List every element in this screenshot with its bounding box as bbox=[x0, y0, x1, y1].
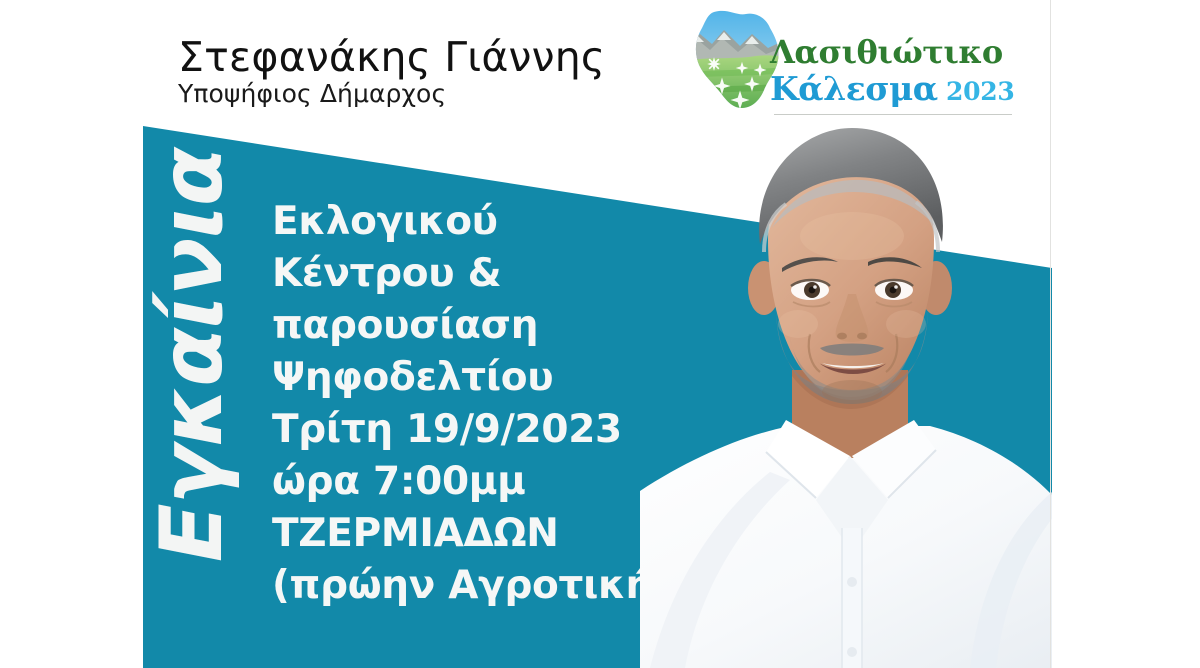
logo-kalesma-text: Κάλεσμα bbox=[770, 69, 938, 108]
right-margin-rule bbox=[1050, 0, 1051, 668]
event-line-1: Εκλογικού bbox=[272, 196, 702, 248]
event-line-3: παρουσίαση bbox=[272, 300, 702, 352]
logo-underline bbox=[774, 114, 1012, 115]
event-line-2: Κέντρου & bbox=[272, 248, 702, 300]
event-place: ΤΖΕΡΜΙΑΔΩΝ bbox=[272, 508, 702, 560]
event-time: ώρα 7:00μμ bbox=[272, 456, 702, 508]
candidate-role: Υποψήφιος Δήμαρχος bbox=[178, 80, 698, 109]
logo-wordmark: Λασιθιώτικο Κάλεσμα 2023 bbox=[770, 36, 1036, 105]
logo-line-kalesma: Κάλεσμα 2023 bbox=[770, 72, 1036, 105]
candidate-portrait bbox=[640, 120, 1060, 668]
logo-year: 2023 bbox=[938, 77, 1015, 106]
candidate-name-block: Στεφανάκης Γιάννης Υποψήφιος Δήμαρχος bbox=[178, 36, 698, 109]
logo-line-lasithiotiko: Λασιθιώτικο bbox=[770, 36, 1036, 68]
campaign-poster: Εγκαίνια Εκλογικού Κέντρου & παρουσίαση … bbox=[0, 0, 1200, 668]
event-line-4: Ψηφοδελτίου bbox=[272, 352, 702, 404]
vertical-headline-egkainia: Εγκαίνια bbox=[149, 75, 235, 635]
event-date: Τρίτη 19/9/2023 bbox=[272, 404, 702, 456]
campaign-logo: Λασιθιώτικο Κάλεσμα 2023 bbox=[684, 6, 1034, 118]
page-title: Στεφανάκης Γιάννης bbox=[178, 36, 698, 79]
event-details: Εκλογικού Κέντρου & παρουσίαση Ψηφοδελτί… bbox=[272, 196, 702, 612]
event-place-note: (πρώην Αγροτική) bbox=[272, 560, 702, 612]
right-white-margin bbox=[1052, 0, 1200, 668]
